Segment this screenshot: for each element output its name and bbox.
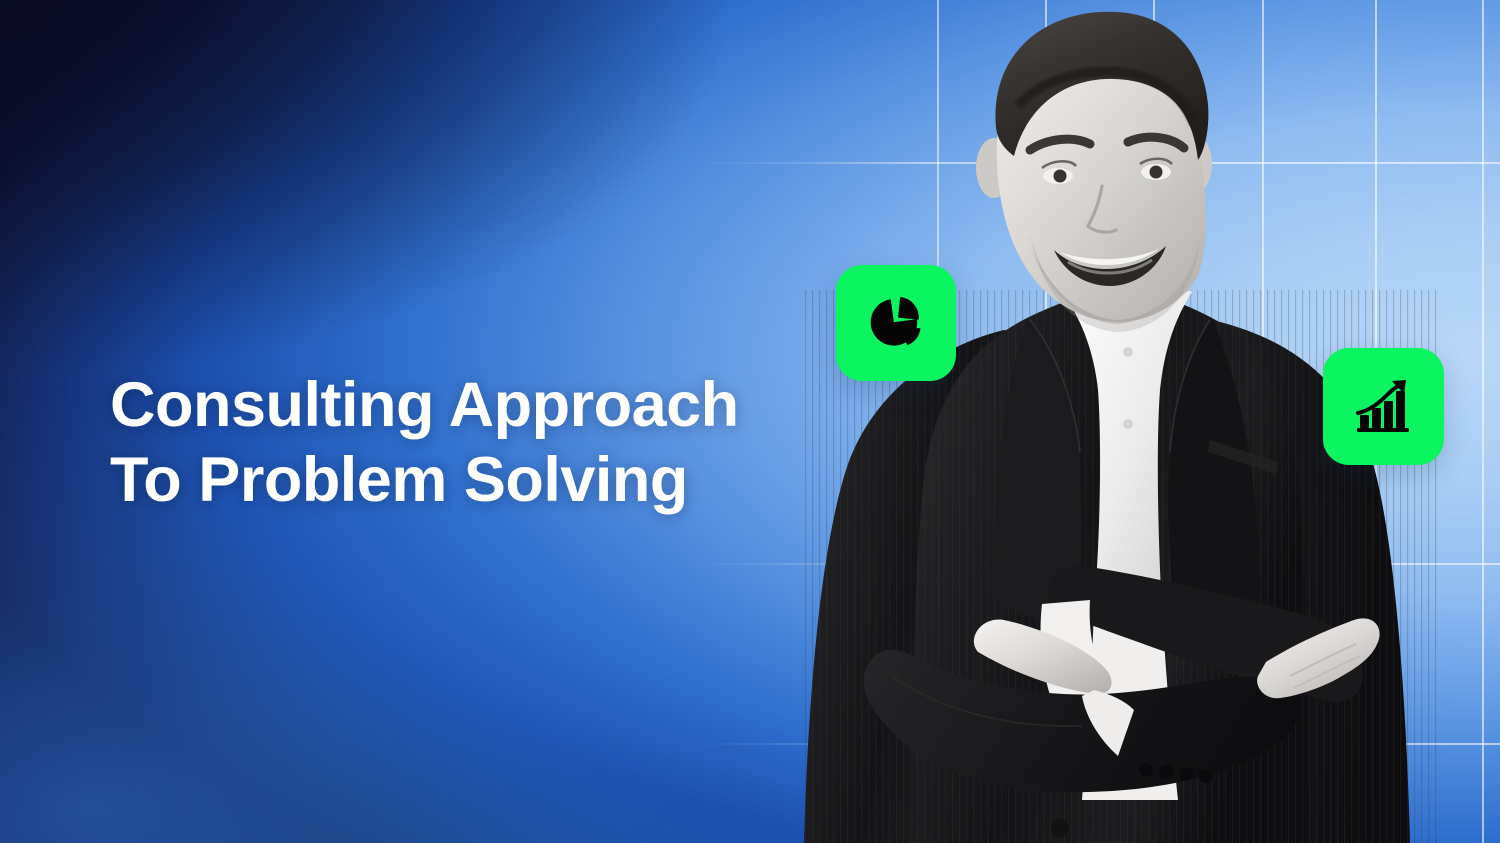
growth-chart-badge [1323,348,1444,465]
bar-chart-growth-arrow-icon [1352,375,1416,439]
jacket-buttons [1051,819,1069,837]
pie-chart-badge [836,265,956,381]
head [976,12,1212,332]
consulting-banner: Consulting Approach To Problem Solving [0,0,1500,843]
page-title: Consulting Approach To Problem Solving [110,368,739,518]
pie-chart-icon [865,292,927,354]
